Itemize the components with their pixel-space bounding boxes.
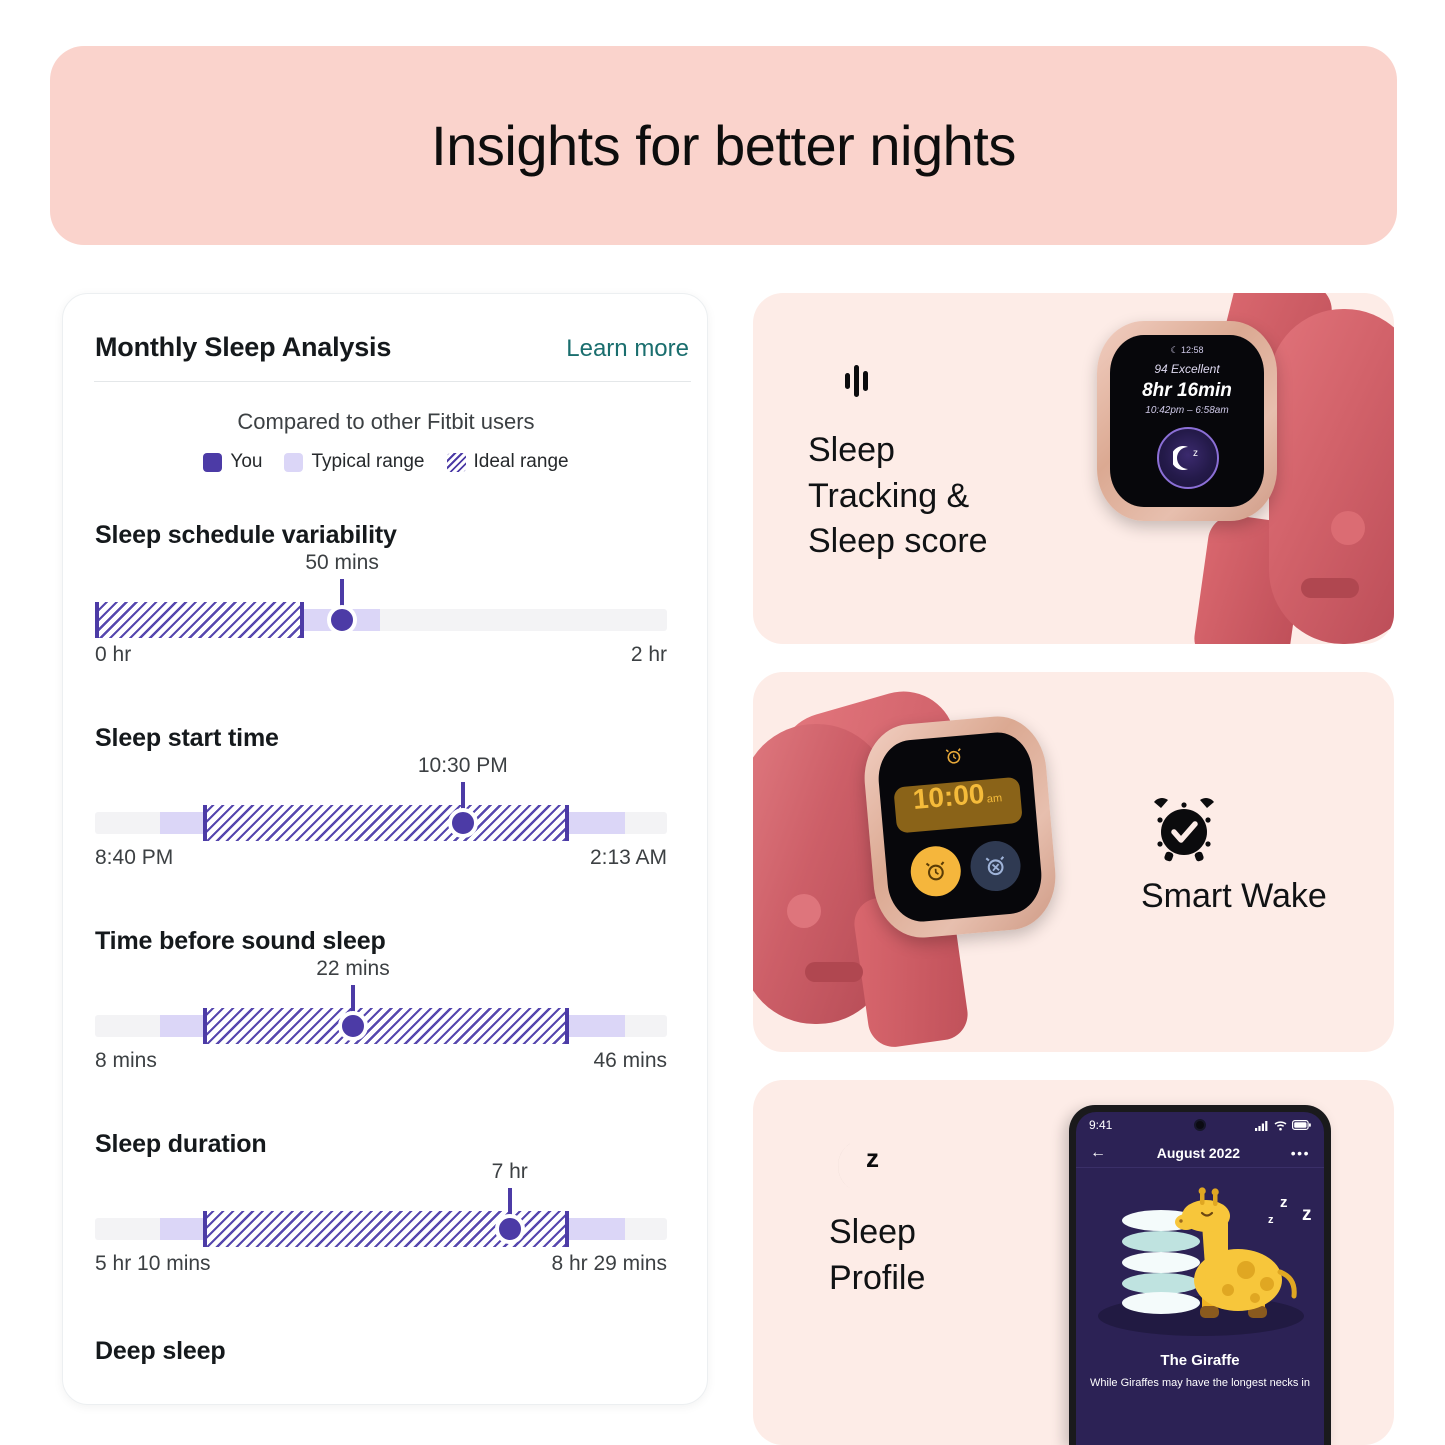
- feature-label-sleep-profile: Sleep Profile: [829, 1210, 925, 1301]
- alarm-bell-icon: [944, 747, 964, 767]
- feature-card-smart-wake[interactable]: Smart Wake: [753, 672, 1394, 1052]
- chart-legend: You Typical range Ideal range: [63, 451, 708, 473]
- watch-display: 10:00 am: [875, 730, 1044, 925]
- alarm-snooze-button[interactable]: [909, 844, 963, 898]
- gauge-axis: 0 hr 2 hr: [95, 643, 667, 667]
- overflow-menu-icon[interactable]: •••: [1291, 1145, 1310, 1161]
- alarm-check-icon: [1148, 794, 1220, 869]
- card-title: Monthly Sleep Analysis: [95, 332, 391, 363]
- watch-strap-slot: [805, 962, 863, 982]
- watch-case: 10:00 am: [860, 712, 1060, 941]
- arrow-left-icon[interactable]: ←: [1090, 1144, 1106, 1162]
- axis-min-label: 8:40 PM: [95, 846, 173, 870]
- axis-max-label: 2:13 AM: [590, 846, 667, 870]
- app-bar-title: August 2022: [1157, 1145, 1240, 1161]
- gauge-axis: 5 hr 10 mins 8 hr 29 mins: [95, 1252, 667, 1276]
- phone-screen: 9:41: [1076, 1112, 1324, 1445]
- legend-label-you: You: [230, 451, 262, 473]
- watch-sleep-ring: z: [1157, 427, 1219, 489]
- wifi-icon: [1274, 1120, 1287, 1131]
- sleep-profile-name: The Giraffe: [1076, 1352, 1324, 1369]
- range-gauge[interactable]: 22 mins: [95, 1015, 667, 1037]
- metric-title: Sleep schedule variability: [95, 521, 397, 550]
- gauge-ideal-range-band: [203, 1008, 569, 1044]
- battery-icon: [1292, 1120, 1311, 1130]
- card-header: Monthly Sleep Analysis Learn more: [95, 332, 689, 363]
- feature-label-smart-wake: Smart Wake: [1141, 874, 1327, 920]
- alarm-dismiss-button[interactable]: [968, 839, 1022, 893]
- legend-label-ideal-range: Ideal range: [474, 451, 569, 473]
- moon-z-icon: z: [833, 1135, 895, 1202]
- axis-min-label: 8 mins: [95, 1049, 157, 1073]
- feature-label-sleep-tracking: Sleep Tracking & Sleep score: [808, 428, 988, 565]
- axis-max-label: 2 hr: [631, 643, 667, 667]
- watch-strap-slot: [1301, 578, 1359, 598]
- page-title: Insights for better nights: [431, 118, 1016, 174]
- poster-root: Insights for better nights Monthly Sleep…: [0, 0, 1445, 1445]
- moon-icon: ☾: [1170, 345, 1178, 355]
- metric-title: Sleep start time: [95, 724, 279, 753]
- sleep-profile-illustration: z z z: [1076, 1168, 1324, 1350]
- svg-text:z: z: [866, 1143, 879, 1173]
- watch-sleep-window: 10:42pm – 6:58am: [1110, 405, 1264, 416]
- svg-text:z: z: [1193, 448, 1198, 459]
- range-gauge[interactable]: 7 hr: [95, 1218, 667, 1240]
- legend-item-ideal-range: Ideal range: [447, 451, 569, 473]
- status-time: 9:41: [1089, 1118, 1112, 1132]
- metric-title: Time before sound sleep: [95, 927, 386, 956]
- z-small: z: [1268, 1214, 1274, 1226]
- gauge-ideal-range-band: [95, 602, 304, 638]
- hero-banner: Insights for better nights: [50, 46, 1397, 245]
- watch-strap-hole: [1331, 511, 1365, 545]
- gauge-value-label: 22 mins: [316, 957, 390, 981]
- learn-more-link[interactable]: Learn more: [566, 335, 689, 363]
- phone-app-bar: ← August 2022 •••: [1076, 1138, 1324, 1168]
- legend-swatch-ideal-icon: [447, 453, 466, 472]
- moon-waves-icon: [811, 353, 875, 414]
- watch-case: ☾ 12:58 94 Excellent 8hr 16min 10:42pm –…: [1097, 321, 1277, 521]
- axis-max-label: 8 hr 29 mins: [551, 1252, 667, 1276]
- gauge-value-dot[interactable]: [338, 1011, 368, 1041]
- watch-display: ☾ 12:58 94 Excellent 8hr 16min 10:42pm –…: [1110, 335, 1264, 507]
- gauge-axis: 8:40 PM 2:13 AM: [95, 846, 667, 870]
- alarm-time-pill[interactable]: 10:00 am: [893, 777, 1023, 834]
- smartphone-illustration: 9:41: [1069, 1105, 1331, 1445]
- status-indicators: [1255, 1120, 1311, 1131]
- smartwatch-illustration: ☾ 12:58 94 Excellent 8hr 16min 10:42pm –…: [1073, 293, 1394, 644]
- gauge-value-label: 10:30 PM: [418, 754, 508, 778]
- watch-clock-row: ☾ 12:58: [1110, 345, 1264, 356]
- signal-icon: [1255, 1120, 1269, 1131]
- z-large: z: [1302, 1204, 1312, 1226]
- legend-swatch-you-icon: [203, 453, 222, 472]
- legend-label-typical-range: Typical range: [311, 451, 424, 473]
- alarm-meridiem: am: [986, 792, 1002, 805]
- legend-item-typical-range: Typical range: [284, 451, 424, 473]
- feature-card-sleep-profile[interactable]: z Sleep Profile 9:41: [753, 1080, 1394, 1445]
- watch-score: 94 Excellent: [1110, 362, 1264, 376]
- range-gauge[interactable]: 50 mins: [95, 609, 667, 631]
- axis-min-label: 0 hr: [95, 643, 131, 667]
- monthly-sleep-analysis-card: Monthly Sleep Analysis Learn more Compar…: [62, 293, 708, 1405]
- gauge-value-dot[interactable]: [448, 808, 478, 838]
- metric-title: Sleep duration: [95, 1130, 267, 1159]
- alarm-time: 10:00: [912, 780, 986, 814]
- axis-min-label: 5 hr 10 mins: [95, 1252, 211, 1276]
- watch-duration: 8hr 16min: [1110, 380, 1264, 402]
- gauge-value-label: 50 mins: [305, 551, 379, 575]
- watch-strap-hole: [787, 894, 821, 928]
- gauge-ideal-range-band: [203, 805, 569, 841]
- header-divider: [94, 381, 691, 382]
- gauge-value-dot[interactable]: [327, 605, 357, 635]
- axis-max-label: 46 mins: [593, 1049, 667, 1073]
- gauge-value-label: 7 hr: [492, 1160, 528, 1184]
- front-camera-icon: [1194, 1119, 1206, 1131]
- legend-swatch-typical-icon: [284, 453, 303, 472]
- metric-title: Deep sleep: [95, 1337, 226, 1366]
- legend-item-you: You: [203, 451, 262, 473]
- range-gauge[interactable]: 10:30 PM: [95, 812, 667, 834]
- compared-label: Compared to other Fitbit users: [63, 409, 708, 435]
- feature-card-sleep-tracking[interactable]: Sleep Tracking & Sleep score ☾ 12:58 94 …: [753, 293, 1394, 644]
- z-medium: z: [1280, 1194, 1288, 1211]
- sleep-profile-description: While Giraffes may have the longest neck…: [1076, 1377, 1324, 1391]
- watch-time: 12:58: [1181, 345, 1204, 355]
- smartwatch-illustration: 10:00 am: [753, 672, 1133, 1052]
- gauge-value-dot[interactable]: [495, 1214, 525, 1244]
- gauge-axis: 8 mins 46 mins: [95, 1049, 667, 1073]
